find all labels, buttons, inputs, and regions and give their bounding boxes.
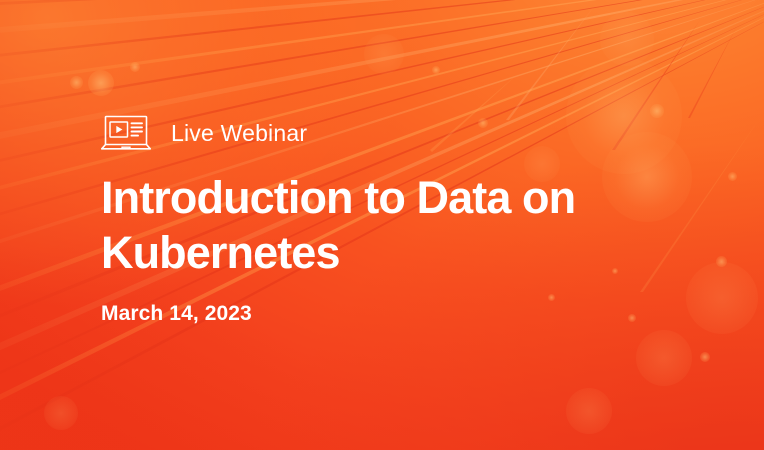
- eyebrow-row: Live Webinar: [101, 115, 307, 151]
- eyebrow-label: Live Webinar: [171, 122, 307, 145]
- event-date: March 14, 2023: [101, 303, 252, 324]
- webinar-screen-play-icon: [101, 115, 151, 151]
- webinar-promo-banner: Live Webinar Introduction to Data on Kub…: [0, 0, 764, 450]
- banner-content: Live Webinar Introduction to Data on Kub…: [101, 0, 701, 450]
- page-title: Introduction to Data on Kubernetes: [101, 171, 641, 281]
